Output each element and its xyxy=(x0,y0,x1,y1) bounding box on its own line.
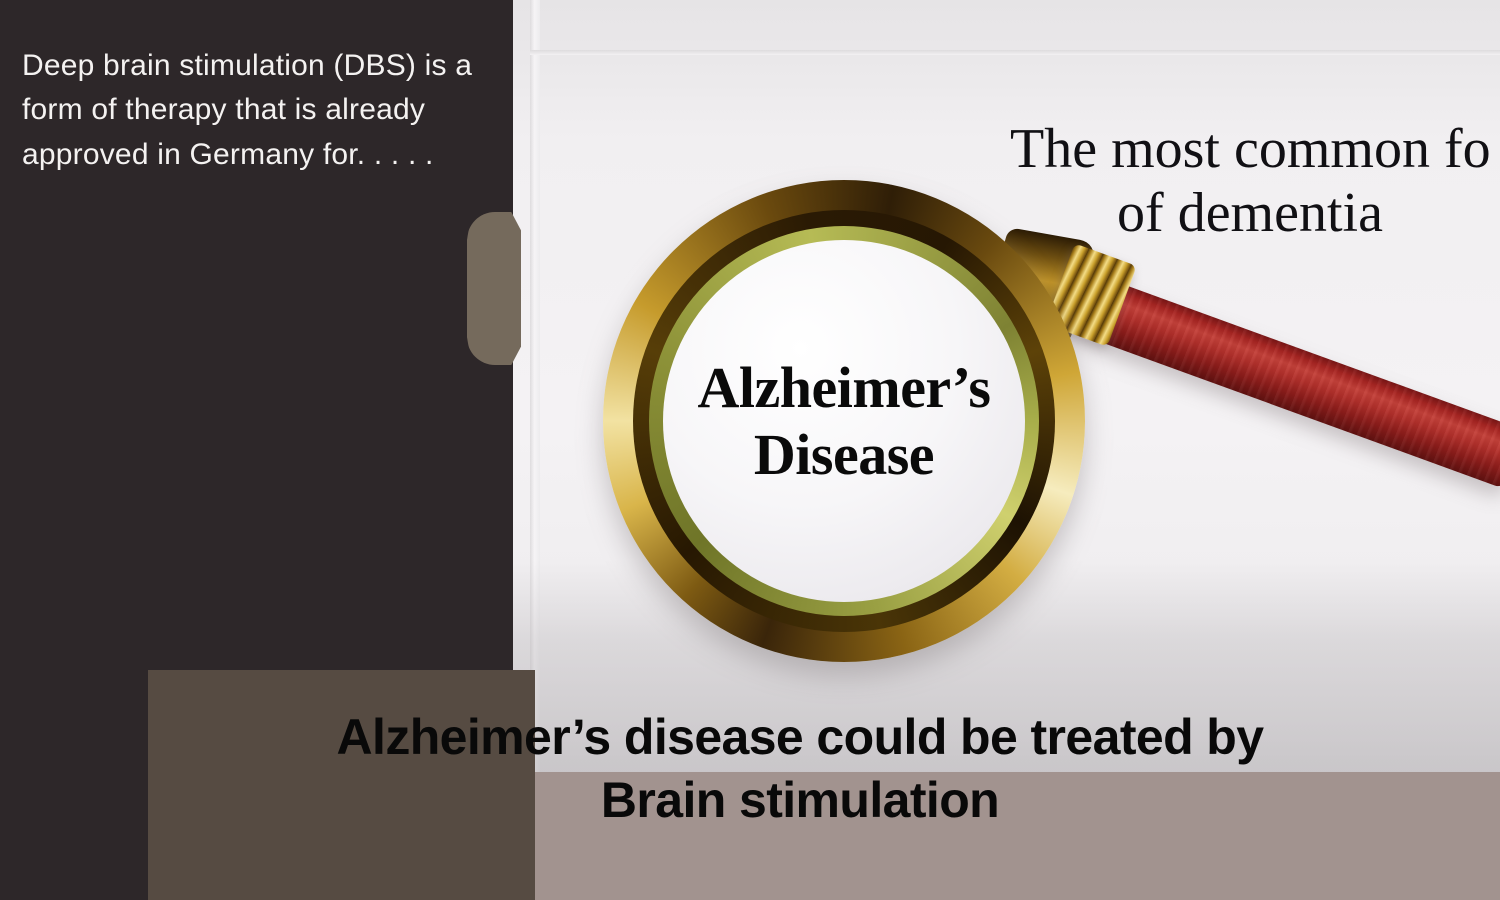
photo-caption-line-1: The most common fo xyxy=(1010,118,1500,182)
photo-caption-line-2: of dementia xyxy=(1010,182,1500,246)
magnifier-lens: Alzheimer’s Disease xyxy=(663,240,1025,602)
article-hero-card: Alzheimer’s Disease The most common fo o… xyxy=(0,0,1500,900)
magnifier-handle xyxy=(1062,270,1500,489)
magnifier-photo: Alzheimer’s Disease The most common fo o… xyxy=(513,0,1500,772)
headline-line-2: Brain stimulation xyxy=(148,769,1452,832)
headline-line-1: Alzheimer’s disease could be treated by xyxy=(148,706,1452,769)
handle-wood-grain xyxy=(1062,270,1500,489)
photo-overlay-caption: The most common fo of dementia xyxy=(1010,118,1500,246)
magnifier-ring-olive: Alzheimer’s Disease xyxy=(649,226,1039,616)
headline: Alzheimer’s disease could be treated by … xyxy=(148,706,1500,832)
magnifier-ring-outer: Alzheimer’s Disease xyxy=(603,180,1085,662)
lens-text-line-2: Disease xyxy=(754,421,934,488)
paper-edge-horizontal xyxy=(530,50,1500,55)
panel-edge-tab[interactable] xyxy=(467,212,521,365)
magnifier-ring-bronze: Alzheimer’s Disease xyxy=(633,210,1055,632)
lens-text-line-1: Alzheimer’s xyxy=(698,354,991,421)
sidebar-body-text: Deep brain stimulation (DBS) is a form o… xyxy=(22,44,507,177)
